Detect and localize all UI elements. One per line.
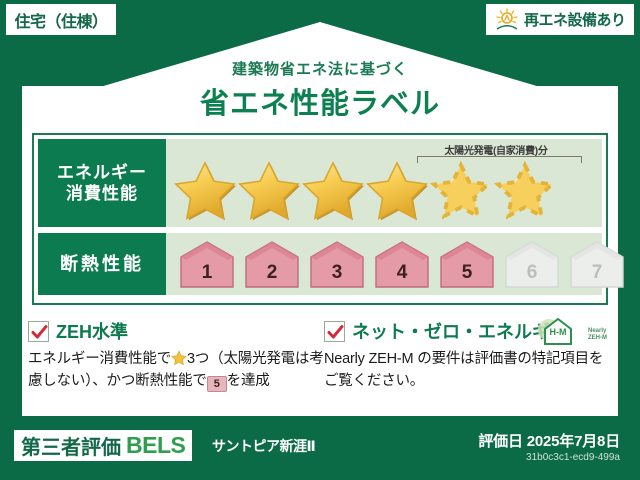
bels-jp-label: 第三者評価 — [21, 431, 121, 460]
sun-icon — [494, 8, 520, 32]
note-net-zero-energy: ネット・ゼロ・エネルギー H-M Nearly ZEH-M Nearly ZEH… — [324, 318, 612, 410]
renewable-equipment-tag: 再エネ設備あり — [486, 4, 634, 35]
insulation-performance-row: 断熱性能 1234567 — [38, 233, 602, 295]
note-zeh-standard: ZEH水準 エネルギー消費性能で3つ（太陽光発電は考慮しない）、かつ断熱性能で5… — [28, 318, 324, 410]
insulation-level-number: 4 — [397, 262, 408, 284]
house-type-tag: 住宅（住棟） — [6, 4, 116, 35]
energy-rating-area: 太陽光発電(自家消費)分 — [166, 139, 602, 227]
star-rating — [174, 155, 598, 225]
insulation-level-1: 1 — [176, 239, 238, 289]
label-subtitle: 建築物省エネ法に基づく — [0, 58, 640, 79]
star-filled-icon — [174, 159, 236, 221]
energy-performance-row: エネルギー 消費性能 太陽光発電(自家消費)分 — [38, 139, 602, 227]
insulation-level-scale: 1234567 — [176, 233, 628, 295]
insulation-level-5: 5 — [436, 239, 498, 289]
energy-label-line1: エネルギー — [57, 162, 147, 183]
zeh-text-part3: を達成 — [227, 373, 270, 389]
insulation-level-number: 1 — [202, 262, 213, 284]
energy-performance-label: 住宅（住棟） 再エネ設備あり 建築物省エネ法に基づく 省エネ性能ラベル エ — [0, 0, 640, 480]
nze-checkbox[interactable] — [324, 321, 345, 342]
bels-badge: 第三者評価 BELS — [14, 430, 192, 461]
label-footer: 第三者評価 BELS サントピア新涯Ⅱ 評価日 2025年7月8日 31b0c3… — [0, 422, 640, 480]
check-icon — [31, 324, 48, 341]
zeh-checkbox[interactable] — [28, 321, 49, 342]
insulation-level-2: 2 — [241, 239, 303, 289]
insulation-level-number: 6 — [527, 262, 538, 284]
zeh-description: エネルギー消費性能で3つ（太陽光発電は考慮しない）、かつ断熱性能で5を達成 — [28, 349, 324, 393]
insulation-level-number: 7 — [592, 262, 603, 284]
zeh-title: ZEH水準 — [56, 318, 128, 344]
insulation-level-3: 3 — [306, 239, 368, 289]
evaluation-id: 31b0c3c1-ecd9-499a — [526, 452, 620, 463]
evaluation-date: 評価日 2025年7月8日 — [478, 430, 620, 451]
star-filled-icon — [366, 159, 428, 221]
insulation-level-number: 5 — [462, 262, 473, 284]
insulation-level-number: 2 — [267, 262, 278, 284]
svg-text:Nearly: Nearly — [588, 328, 607, 334]
zeh-m-logo-icon: H-M Nearly ZEH-M — [536, 314, 608, 348]
renewable-equipment-label: 再エネ設備あり — [524, 9, 626, 30]
svg-text:ZEH-M: ZEH-M — [588, 335, 607, 341]
star-icon — [171, 350, 187, 366]
building-name: サントピア新涯Ⅱ — [212, 436, 315, 456]
check-icon — [327, 324, 344, 341]
svg-text:H-M: H-M — [550, 327, 567, 337]
notes-section: ZEH水準 エネルギー消費性能で3つ（太陽光発電は考慮しない）、かつ断熱性能で5… — [28, 318, 612, 410]
star-dashed-icon — [494, 159, 556, 221]
energy-performance-label: エネルギー 消費性能 — [38, 139, 166, 227]
star-filled-icon — [302, 159, 364, 221]
nze-description: Nearly ZEH-M の要件は評価書の特記項目をご覧ください。 — [324, 349, 612, 393]
zeh-text-part1: エネルギー消費性能で — [28, 351, 171, 367]
bels-en-label: BELS — [126, 432, 185, 459]
house-type-label: 住宅（住棟） — [14, 8, 107, 32]
zeh-level-badge: 5 — [207, 376, 227, 392]
star-filled-icon — [238, 159, 300, 221]
insulation-level-6: 6 — [501, 239, 563, 289]
insulation-level-number: 3 — [332, 262, 343, 284]
insulation-performance-label: 断熱性能 — [38, 233, 166, 295]
insulation-level-4: 4 — [371, 239, 433, 289]
insulation-rating-area: 1234567 — [166, 233, 602, 295]
note-zeh-header: ZEH水準 — [28, 318, 324, 344]
performance-panel: エネルギー 消費性能 太陽光発電(自家消費)分 断熱性能 1234567 — [32, 133, 608, 305]
energy-label-line2: 消費性能 — [66, 183, 138, 204]
page-title: 省エネ性能ラベル — [0, 80, 640, 122]
star-dashed-icon — [430, 159, 492, 221]
insulation-level-7: 7 — [566, 239, 628, 289]
